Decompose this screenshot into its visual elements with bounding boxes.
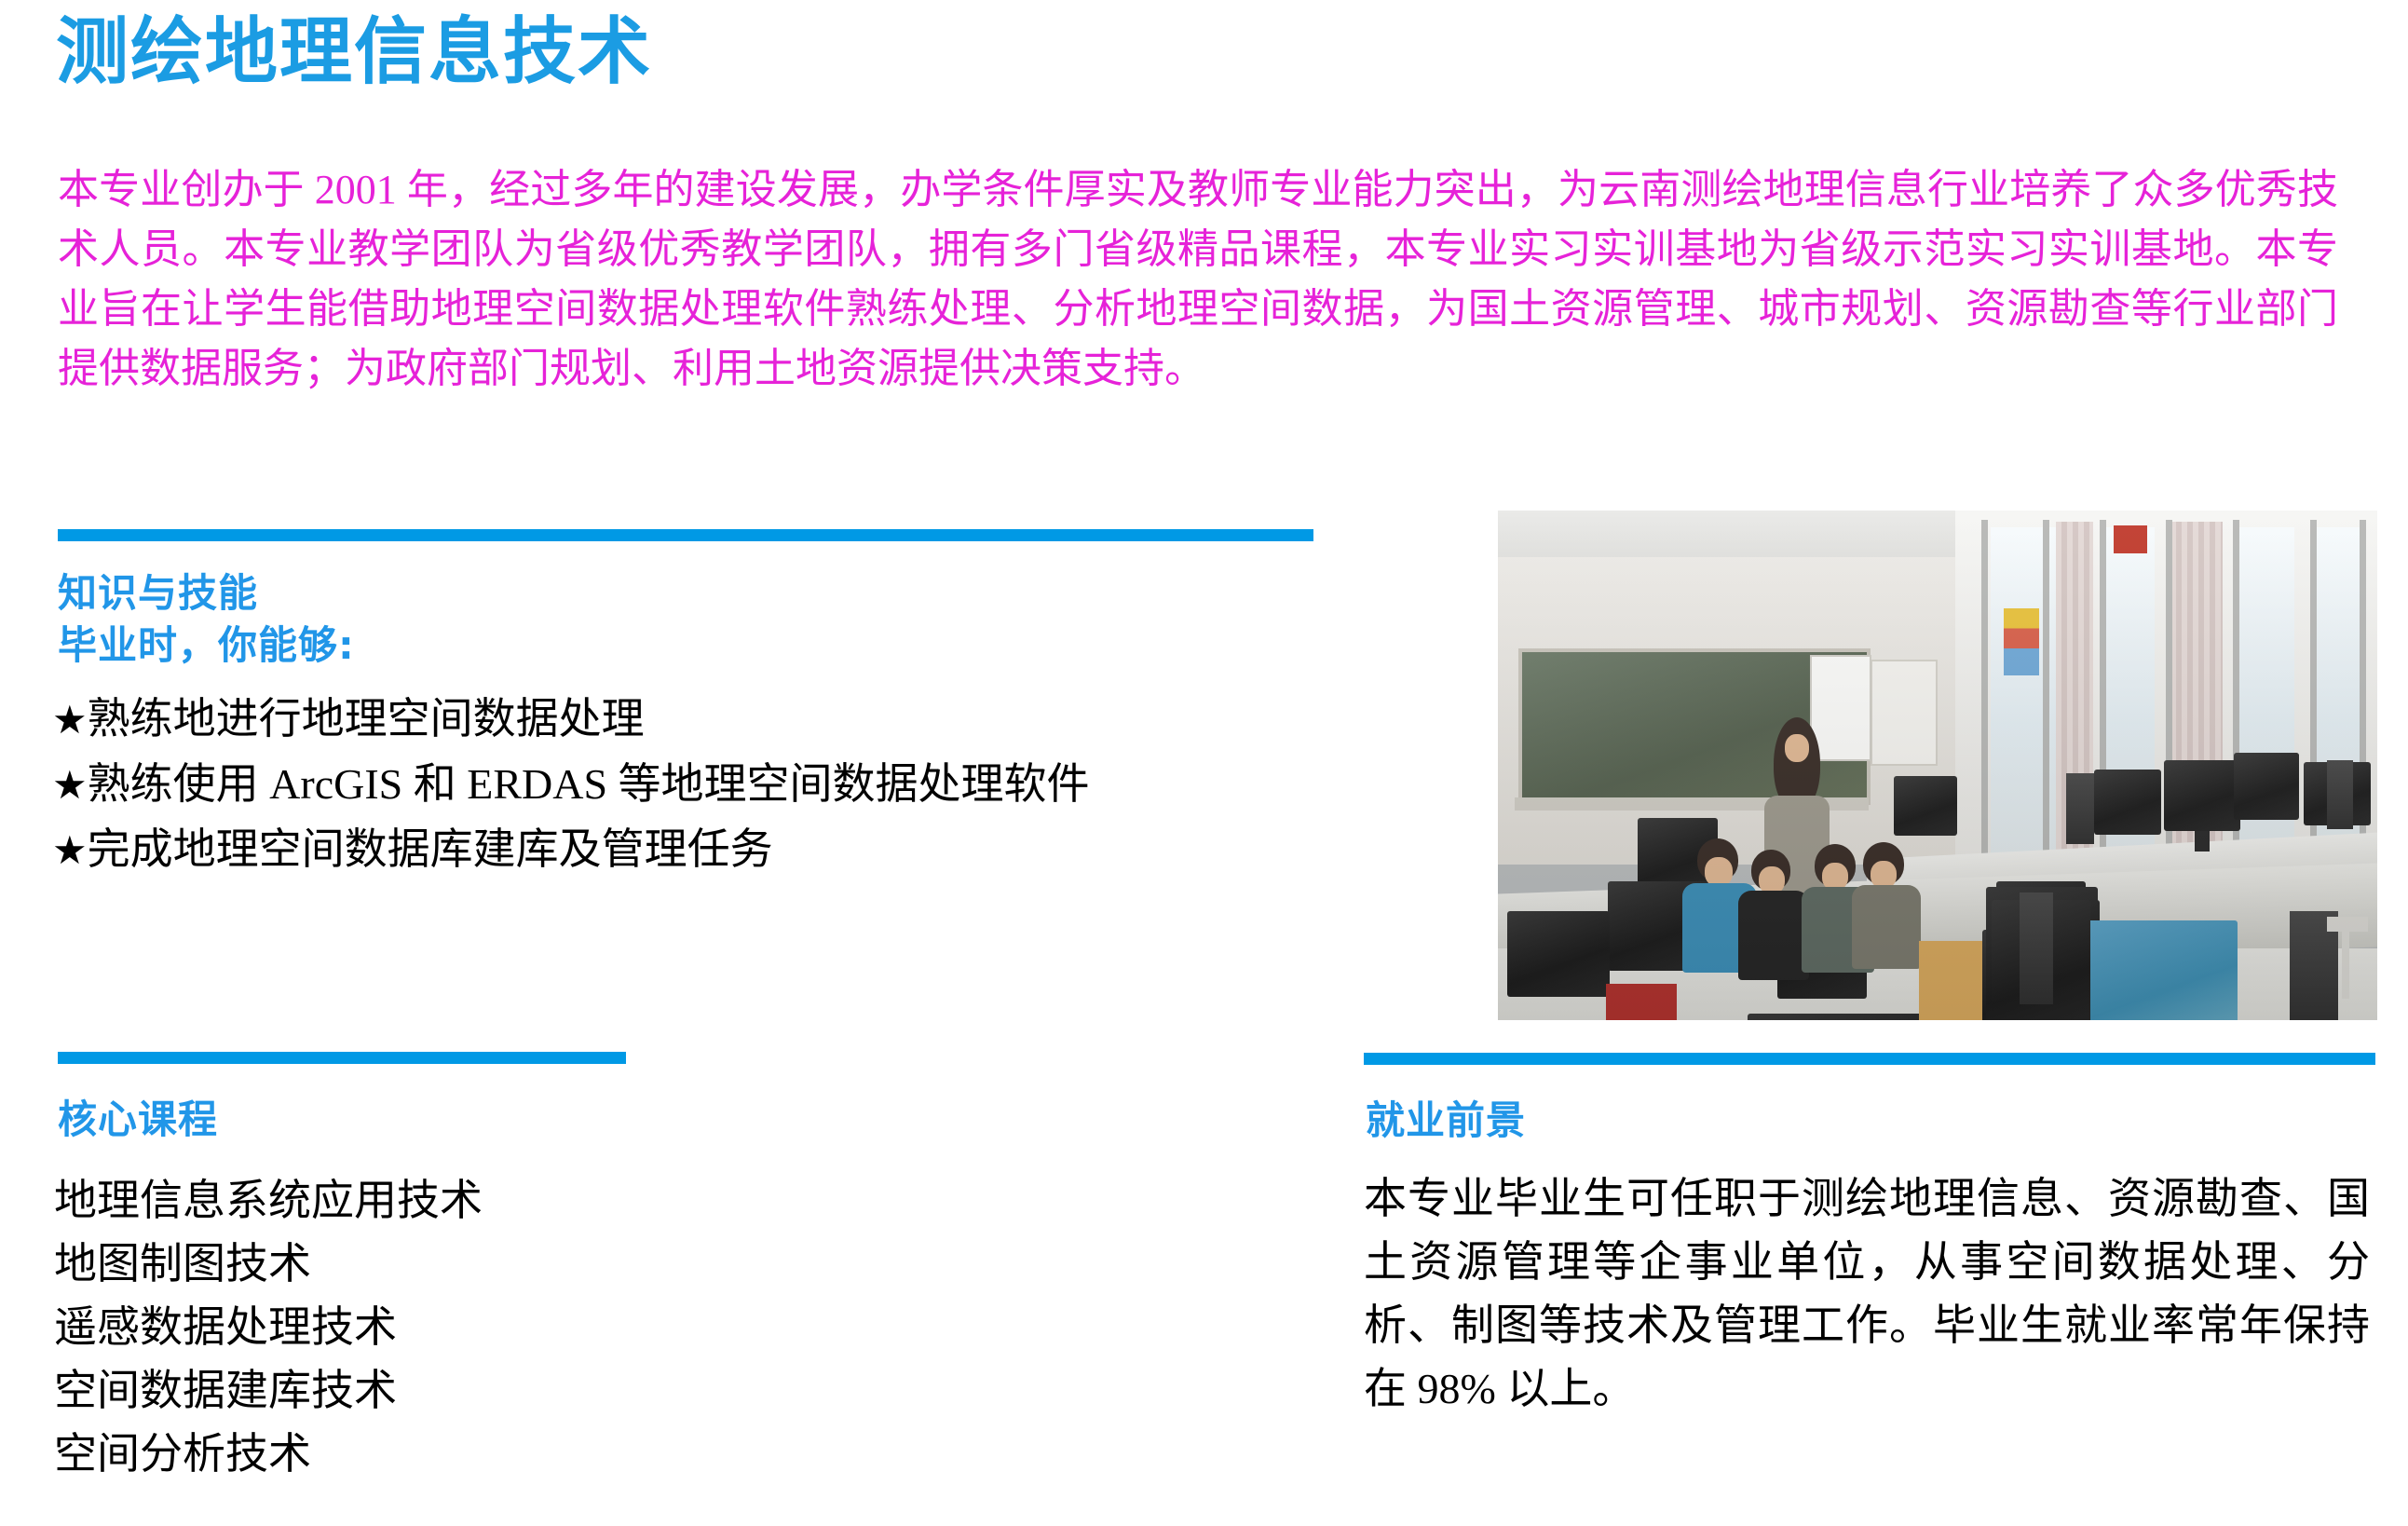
list-item: ★完成地理空间数据库建库及管理任务 [52, 818, 1319, 883]
list-item: 地理信息系统应用技术 [54, 1169, 799, 1233]
list-item: 地图制图技术 [54, 1233, 799, 1296]
section-subheading-upon-graduation: 毕业时，你能够: [58, 622, 355, 669]
skills-list: ★熟练地进行地理空间数据处理 ★熟练使用 ArcGIS 和 ERDAS 等地理空… [52, 688, 1319, 883]
list-item: ★熟练地进行地理空间数据处理 [52, 688, 1319, 753]
core-courses-list: 地理信息系统应用技术 地图制图技术 遥感数据处理技术 空间数据建库技术 空间分析… [54, 1169, 799, 1486]
skills-item-label: 熟练使用 ArcGIS 和 ERDAS 等地理空间数据处理软件 [88, 760, 1090, 808]
intro-paragraph: 本专业创办于 2001 年，经过多年的建设发展，办学条件厚实及教师专业能力突出，… [58, 160, 2338, 399]
computer-lab-photo [1498, 511, 2377, 1020]
star-bullet-icon: ★ [52, 700, 88, 743]
star-bullet-icon: ★ [52, 765, 88, 808]
divider-career-outlook [1364, 1053, 2375, 1065]
list-item: ★熟练使用 ArcGIS 和 ERDAS 等地理空间数据处理软件 [52, 753, 1319, 818]
section-heading-core-courses: 核心课程 [58, 1097, 218, 1143]
divider-core-courses [58, 1052, 626, 1064]
star-bullet-icon: ★ [52, 830, 88, 873]
photo-tone-overlay [1498, 511, 2377, 1020]
divider-skills [58, 529, 1313, 541]
page-title: 测绘地理信息技术 [56, 7, 652, 97]
list-item: 空间分析技术 [54, 1423, 799, 1486]
list-item: 空间数据建库技术 [54, 1359, 799, 1423]
section-heading-career-outlook: 就业前景 [1366, 1097, 1526, 1144]
list-item: 遥感数据处理技术 [54, 1296, 799, 1359]
section-heading-skills: 知识与技能 [58, 570, 258, 617]
skills-item-label: 完成地理空间数据库建库及管理任务 [88, 825, 773, 873]
skills-item-label: 熟练地进行地理空间数据处理 [88, 695, 645, 743]
career-outlook-paragraph: 本专业毕业生可任职于测绘地理信息、资源勘查、国土资源管理等企事业单位，从事空间数… [1364, 1167, 2370, 1421]
